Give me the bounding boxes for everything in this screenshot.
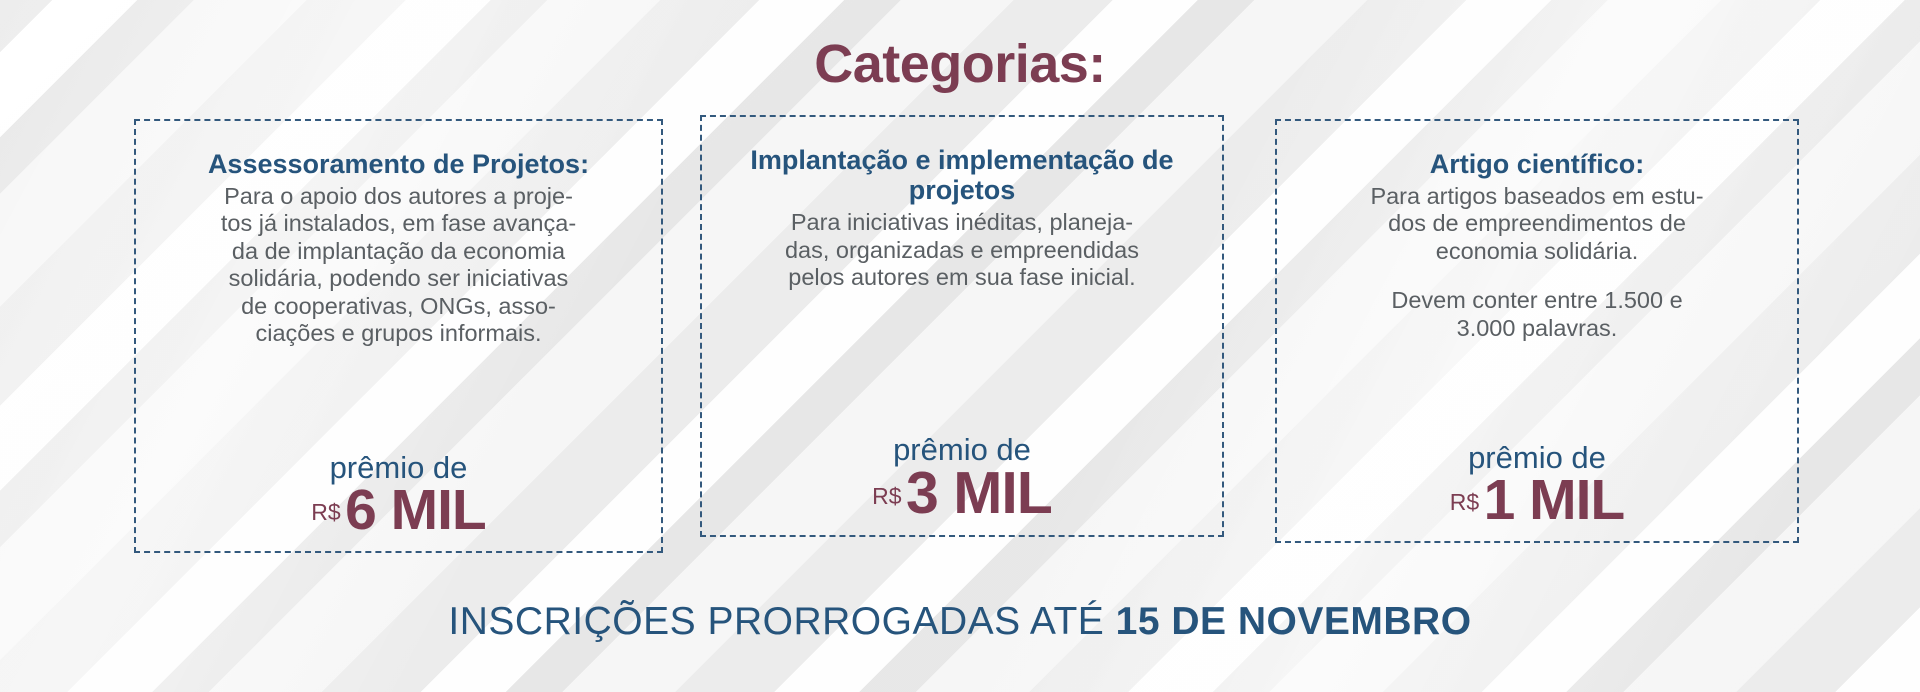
category-description: Para iniciativas inéditas, planeja- das,… <box>785 209 1139 291</box>
deadline-banner: INSCRIÇÕES PRORROGADAS ATÉ 15 DE NOVEMBR… <box>0 600 1920 644</box>
prize-block: prêmio de R$ 3 MIL <box>720 434 1204 521</box>
category-description: Para artigos baseados em estu- dos de em… <box>1370 183 1703 265</box>
category-card-artigo-cientifico: Artigo científico: Para artigos baseados… <box>1275 119 1799 543</box>
category-card-implantacao: Implantação e implementação de projetos … <box>700 115 1224 537</box>
prize-block: prêmio de R$ 6 MIL <box>154 452 643 537</box>
category-heading: Assessoramento de Projetos: <box>208 149 589 179</box>
category-description: Para o apoio dos autores a proje- tos já… <box>221 183 576 348</box>
page-title: Categorias: <box>0 0 1920 93</box>
categories-card-row: Assessoramento de Projetos: Para o apoio… <box>0 115 1920 475</box>
promo-banner: Categorias: Assessoramento de Projetos: … <box>0 0 1920 692</box>
prize-value: 1 MIL <box>1484 468 1625 532</box>
category-card-assessoramento: Assessoramento de Projetos: Para o apoio… <box>134 119 663 553</box>
prize-currency: R$ <box>311 499 340 525</box>
prize-currency: R$ <box>872 483 901 509</box>
deadline-text: INSCRIÇÕES PRORROGADAS ATÉ <box>448 600 1115 643</box>
category-heading: Implantação e implementação de projetos <box>720 145 1204 205</box>
prize-block: prêmio de R$ 1 MIL <box>1295 442 1779 527</box>
prize-value: 3 MIL <box>906 460 1052 526</box>
deadline-date: 15 DE NOVEMBRO <box>1116 600 1472 643</box>
prize-value: 6 MIL <box>345 478 486 542</box>
category-heading: Artigo científico: <box>1430 149 1645 179</box>
prize-amount: R$ 1 MIL <box>1295 473 1779 527</box>
prize-amount: R$ 6 MIL <box>154 483 643 537</box>
prize-currency: R$ <box>1450 489 1479 515</box>
category-description-extra: Devem conter entre 1.500 e 3.000 palavra… <box>1391 287 1682 342</box>
prize-amount: R$ 3 MIL <box>720 465 1204 521</box>
